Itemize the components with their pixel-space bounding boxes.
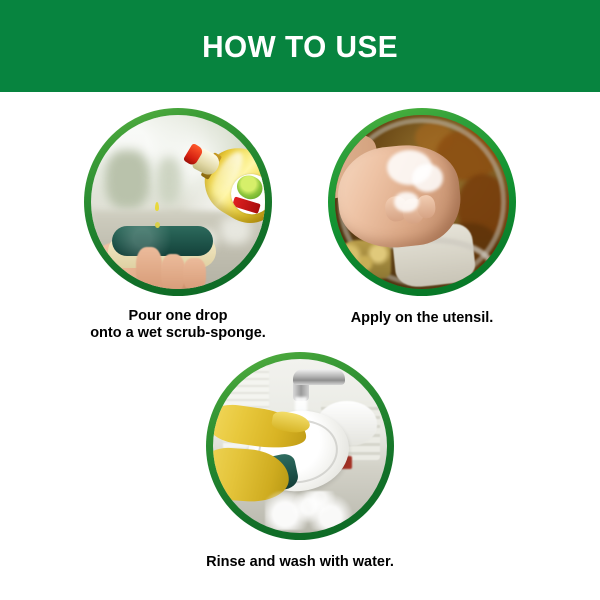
foam-lather (394, 192, 418, 213)
foam-lather (412, 164, 443, 192)
page-title: HOW TO USE (202, 31, 398, 62)
step-2-photo-ring (328, 108, 516, 296)
step-item-1: Pour one drop onto a wet scrub-sponge. (70, 108, 286, 342)
scene-rinse-water (213, 359, 387, 533)
step-3-photo (213, 359, 387, 533)
step-3-caption: Rinse and wash with water. (192, 554, 408, 571)
step-1-photo-ring (84, 108, 272, 296)
step-item-3: Rinse and wash with water. (192, 352, 408, 571)
finger (136, 247, 162, 289)
sponge-scrub-pad (112, 226, 213, 256)
step-1-caption: Pour one drop onto a wet scrub-sponge. (70, 308, 286, 342)
steps-container: Pour one drop onto a wet scrub-sponge. (0, 92, 600, 600)
finger (161, 254, 185, 289)
finger (183, 258, 206, 289)
water-splash (265, 491, 355, 529)
tap-faucet (293, 369, 345, 385)
step-2-caption: Apply on the utensil. (314, 310, 530, 327)
scene-pour-drop (91, 115, 265, 289)
scene-apply-utensil (335, 115, 509, 289)
step-item-2: Apply on the utensil. (314, 108, 530, 327)
header-band: HOW TO USE (0, 0, 600, 92)
step-2-photo (335, 115, 509, 289)
step-3-photo-ring (206, 352, 394, 540)
knuckle (417, 195, 437, 219)
step-1-photo (91, 115, 265, 289)
blurred-object (105, 150, 150, 209)
